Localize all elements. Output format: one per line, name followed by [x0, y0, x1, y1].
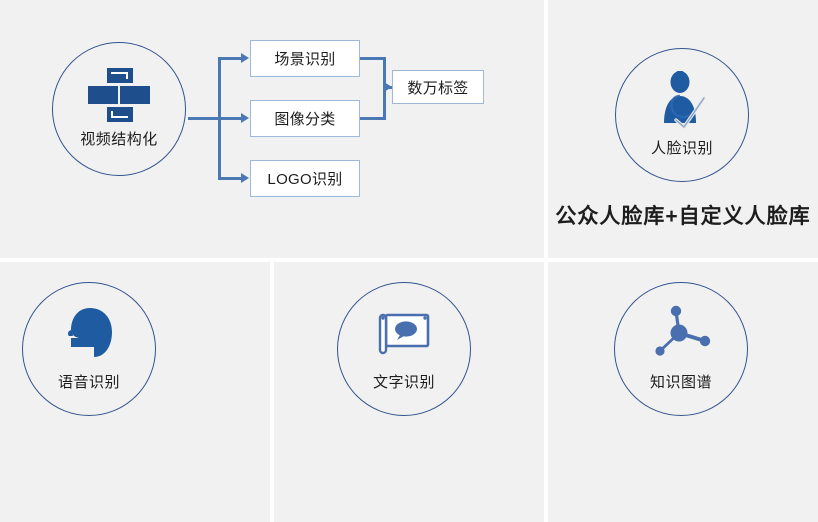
video-icon-bracket-bottom: [111, 111, 128, 118]
connector-branch-logo: [218, 177, 242, 180]
video-icon-bracket-top: [111, 72, 128, 79]
video-icon-block-left: [88, 86, 118, 104]
flow-node-image-classification[interactable]: 图像分类: [250, 100, 360, 137]
face-recognition-circle: 人脸识别: [615, 48, 749, 182]
arrow-to-image-icon: [241, 113, 249, 123]
panel-video-structuring: 视频结构化 场景识别 图像分类 LOGO识别 数万标签: [0, 0, 544, 258]
speech-recognition-label: 语音识别: [23, 371, 155, 392]
video-structuring-label: 视频结构化: [53, 128, 185, 149]
connector-branch-scene: [218, 57, 242, 60]
connector-branch-image: [218, 117, 242, 120]
connector-trunk-horizontal: [188, 117, 220, 120]
arrow-to-scene-icon: [241, 53, 249, 63]
face-recognition-caption: 公众人脸库+自定义人脸库: [548, 200, 818, 230]
panel-knowledge-graph: 知识图谱 知识计算与推理 输出相关标签: [548, 262, 818, 522]
video-structuring-icon: [53, 67, 185, 123]
panel-text-recognition: 文字识别 基于标题、字幕、弹幕等 输出关键词: [274, 262, 544, 522]
video-icon-block-right: [120, 86, 150, 104]
arrow-to-logo-icon: [241, 173, 249, 183]
face-recognition-icon: [616, 69, 748, 131]
text-recognition-circle: 文字识别: [337, 282, 471, 416]
text-banner-icon: [338, 305, 470, 365]
knowledge-graph-label: 知识图谱: [615, 371, 747, 392]
knowledge-graph-icon: [615, 301, 747, 365]
speech-recognition-circle: 语音识别: [22, 282, 156, 416]
capability-overview-board: 视频结构化 场景识别 图像分类 LOGO识别 数万标签: [0, 0, 818, 522]
face-recognition-label: 人脸识别: [616, 137, 748, 158]
panel-speech-recognition: 语音识别 基于长语音识别技术 输出关键词: [0, 262, 270, 522]
text-recognition-label: 文字识别: [338, 371, 470, 392]
flow-node-tens-of-thousands-tags[interactable]: 数万标签: [392, 70, 484, 104]
knowledge-graph-circle: 知识图谱: [614, 282, 748, 416]
flow-node-scene-recognition[interactable]: 场景识别: [250, 40, 360, 77]
flow-node-logo-recognition[interactable]: LOGO识别: [250, 160, 360, 197]
arrow-to-tags-icon: [384, 82, 392, 92]
speech-head-icon: [23, 303, 155, 365]
video-structuring-circle: 视频结构化: [52, 42, 186, 176]
panel-face-recognition: 人脸识别 公众人脸库+自定义人脸库: [548, 0, 818, 258]
